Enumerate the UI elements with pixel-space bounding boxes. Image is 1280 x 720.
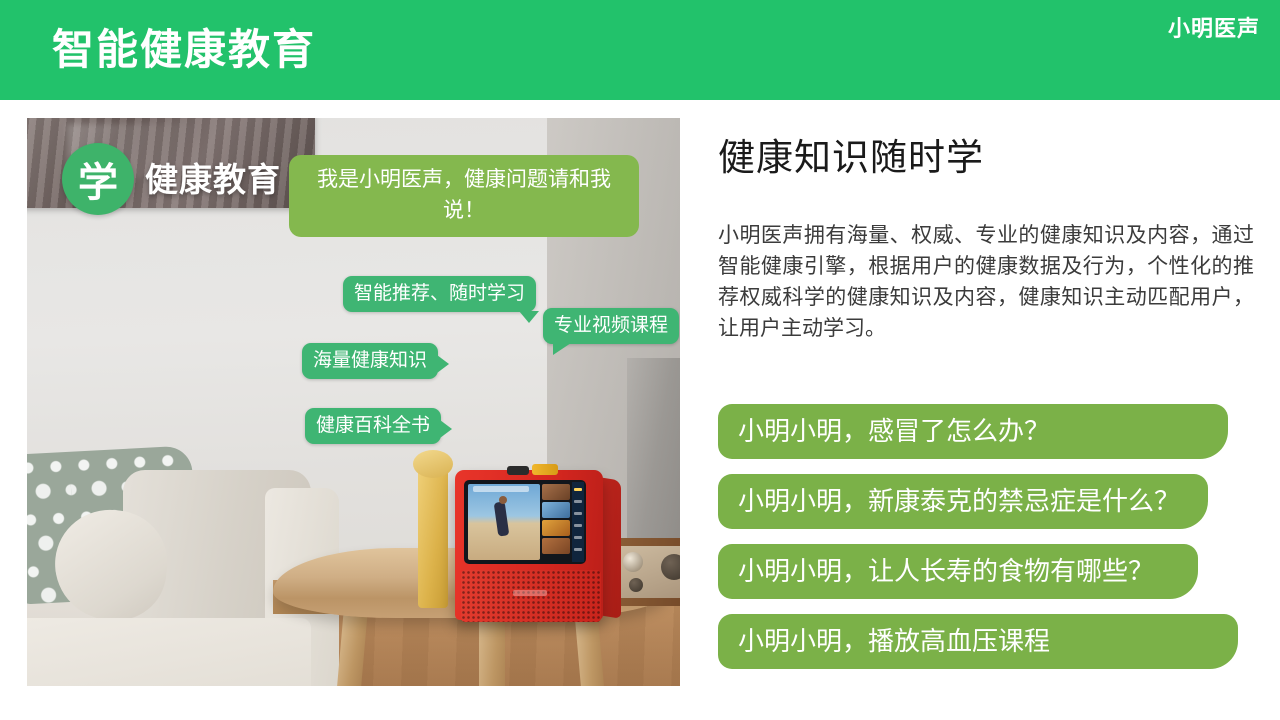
scene-yellow-stand	[418, 458, 448, 608]
scene-sofa-seat	[27, 618, 311, 686]
scene-radio-dial	[629, 578, 643, 592]
photo-section-label: 健康教育	[145, 158, 281, 202]
feature-tag-label: 海量健康知识	[313, 350, 427, 371]
screen-video-title-bar	[473, 486, 529, 492]
screen-thumbnail-item	[542, 502, 570, 518]
tag-pointer-icon	[519, 311, 539, 323]
tag-pointer-icon	[440, 420, 452, 438]
screen-thumbnail-item	[542, 538, 570, 554]
smart-speaker-logo	[513, 590, 547, 596]
screen-thumbnail-item	[542, 484, 570, 500]
sample-question-bubble[interactable]: 小明小明，播放高血压课程	[718, 614, 1238, 669]
sample-question-list: 小明小明，感冒了怎么办？ 小明小明，新康泰克的禁忌症是什么？ 小明小明，让人长寿…	[718, 404, 1258, 684]
page-title: 智能健康教育	[52, 19, 316, 81]
smart-speaker-grille	[461, 570, 601, 622]
tag-pointer-icon	[553, 343, 571, 355]
screen-nav-item	[574, 536, 582, 539]
product-scene-photo: 学 健康教育 我是小明医声，健康问题请和我说！ 智能推荐、随时学习 专业视频课程…	[27, 118, 680, 686]
screen-runner-head	[499, 496, 507, 504]
feature-tag-video-courses: 专业视频课程	[543, 308, 679, 344]
speaker-top-accent	[532, 464, 558, 475]
feature-tag-encyclopedia: 健康百科全书	[305, 408, 441, 444]
page-header: 智能健康教育 小明医声	[0, 0, 1280, 100]
scene-radio-dial	[661, 554, 680, 580]
right-content-column: 健康知识随时学 小明医声拥有海量、权威、专业的健康知识及内容，通过智能健康引擎，…	[718, 132, 1258, 344]
screen-nav-item	[574, 548, 582, 551]
smart-speaker-screen	[464, 480, 586, 564]
screen-nav-item	[574, 512, 582, 515]
sample-question-bubble[interactable]: 小明小明，感冒了怎么办？	[718, 404, 1228, 459]
feature-tag-label: 健康百科全书	[316, 415, 430, 436]
screen-nav-item	[574, 500, 582, 503]
sample-question-bubble[interactable]: 小明小明，让人长寿的食物有哪些？	[718, 544, 1198, 599]
brand-logo: 小明医声	[1168, 14, 1260, 44]
scene-yellow-knob	[413, 450, 453, 478]
screen-nav-item	[574, 488, 582, 491]
feature-tag-mass-knowledge: 海量健康知识	[302, 343, 438, 379]
tag-pointer-icon	[437, 355, 449, 373]
scene-radio-dial	[623, 552, 643, 572]
intro-speech-bubble: 我是小明医声，健康问题请和我说！	[289, 155, 639, 237]
feature-tag-label: 专业视频课程	[554, 315, 668, 336]
feature-tag-smart-recommend: 智能推荐、随时学习	[343, 276, 536, 312]
camera-icon	[507, 466, 529, 475]
screen-thumbnail-item	[542, 520, 570, 536]
section-title: 健康知识随时学	[718, 132, 1258, 184]
screen-nav-item	[574, 524, 582, 527]
feature-tag-label: 智能推荐、随时学习	[354, 283, 525, 304]
sample-question-bubble[interactable]: 小明小明，新康泰克的禁忌症是什么？	[718, 474, 1208, 529]
learn-badge-icon: 学	[62, 143, 134, 215]
section-description: 小明医声拥有海量、权威、专业的健康知识及内容，通过智能健康引擎，根据用户的健康数…	[718, 220, 1254, 344]
